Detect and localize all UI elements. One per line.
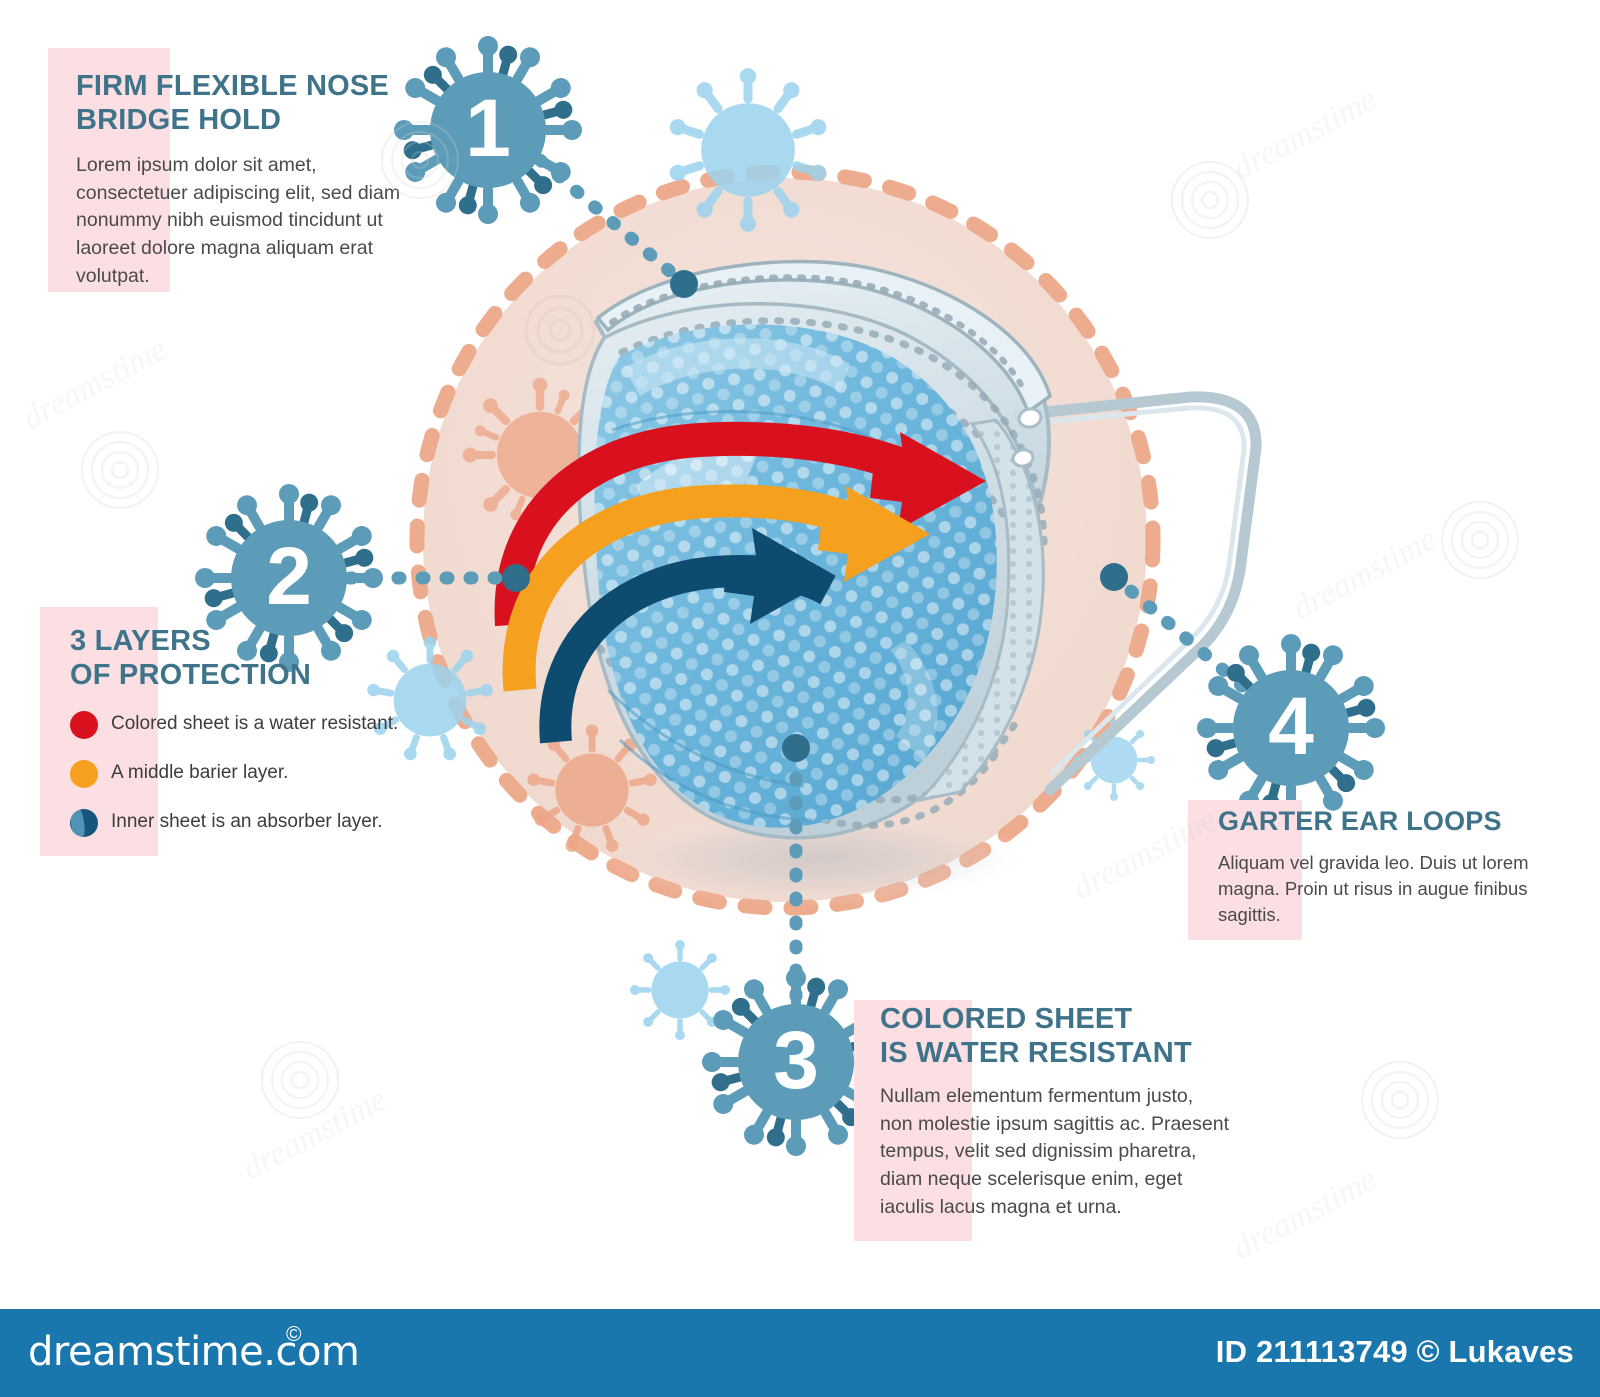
infographic-canvas: 1 — [0, 0, 1600, 1397]
badge-2-number: 2 — [266, 531, 312, 622]
pink-panel-2 — [40, 607, 158, 856]
illustration-artwork: 1 — [0, 0, 1600, 1397]
badge-2: 2 — [195, 484, 383, 672]
pink-panel-1 — [48, 48, 170, 292]
pink-panel-3 — [854, 1000, 972, 1241]
badge-1: 1 — [394, 36, 582, 224]
badge-4-number: 4 — [1268, 681, 1314, 772]
pink-panel-4 — [1188, 800, 1302, 940]
badge-3-number: 3 — [773, 1015, 819, 1106]
badge-4: 4 — [1197, 634, 1385, 822]
badge-1-number: 1 — [465, 83, 511, 174]
